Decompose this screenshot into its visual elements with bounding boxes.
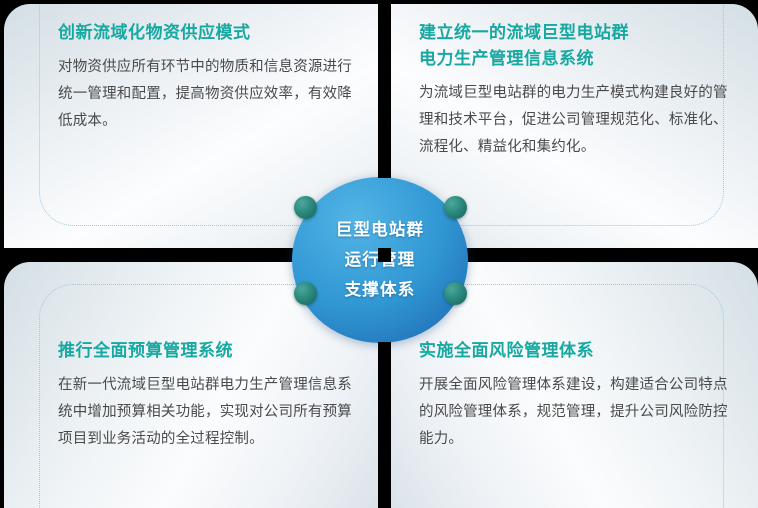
panel-content: 实施全面风险管理体系 开展全面风险管理体系建设，构建适合公司特点的风险管理体系，… — [419, 338, 731, 453]
panel-title: 创新流域化物资供应模式 — [58, 20, 358, 46]
panel-title: 实施全面风险管理体系 — [419, 338, 731, 364]
hub-node-top-left-icon — [294, 196, 317, 219]
panel-body: 为流域巨型电站群的电力生产模式构建良好的管理和技术平台，促进公司管理规范化、标准… — [419, 80, 731, 161]
panel-gutter-top — [378, 0, 391, 178]
panel-content: 创新流域化物资供应模式 对物资供应所有环节中的物质和信息资源进行统一管理和配置，… — [58, 20, 358, 135]
hub-node-top-right-icon — [444, 196, 467, 219]
panel-body: 对物资供应所有环节中的物质和信息资源进行统一管理和配置，提高物资供应效率，有效降… — [58, 54, 358, 135]
diagram-canvas: 创新流域化物资供应模式 对物资供应所有环节中的物质和信息资源进行统一管理和配置，… — [0, 0, 758, 508]
panel-title: 推行全面预算管理系统 — [58, 338, 358, 364]
hub-node-bottom-left-icon — [294, 282, 317, 305]
panel-gutter-middle — [378, 248, 391, 262]
panel-content: 推行全面预算管理系统 在新一代流域巨型电站群电力生产管理信息系统中增加预算相关功… — [58, 338, 358, 453]
panel-content: 建立统一的流域巨型电站群 电力生产管理信息系统 为流域巨型电站群的电力生产模式构… — [419, 20, 731, 161]
panel-title: 建立统一的流域巨型电站群 电力生产管理信息系统 — [419, 20, 731, 72]
panel-gutter-bottom — [378, 342, 391, 508]
panel-body: 在新一代流域巨型电站群电力生产管理信息系统中增加预算相关功能，实现对公司所有预算… — [58, 372, 358, 453]
hub-node-bottom-right-icon — [444, 282, 467, 305]
panel-body: 开展全面风险管理体系建设，构建适合公司特点的风险管理体系，规范管理，提升公司风险… — [419, 372, 731, 453]
